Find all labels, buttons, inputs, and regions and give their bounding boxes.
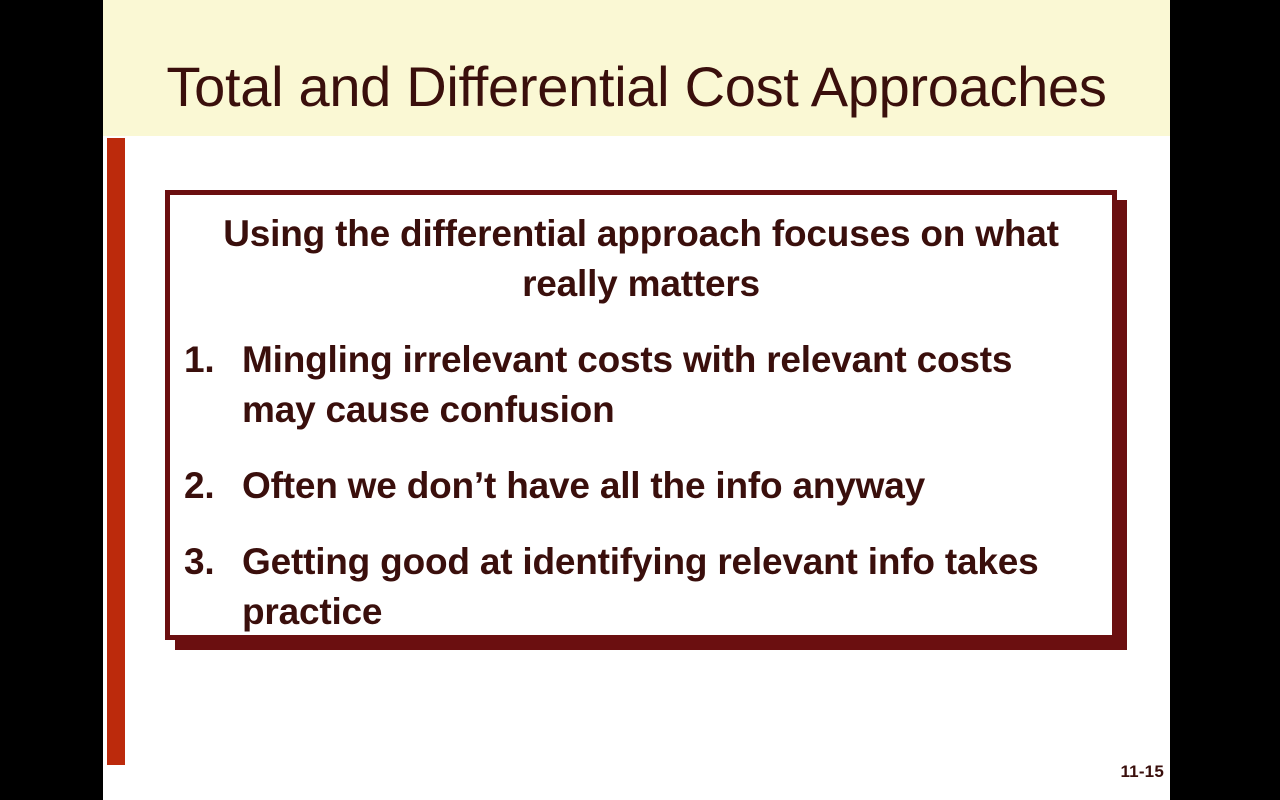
- title-banner: Total and Differential Cost Approaches: [103, 0, 1170, 136]
- list-item-number: 3.: [184, 537, 234, 587]
- list-item: 3. Getting good at identifying relevant …: [178, 537, 1094, 637]
- content-heading: Using the differential approach focuses …: [194, 209, 1088, 309]
- page-title: Total and Differential Cost Approaches: [103, 57, 1170, 117]
- content-box: Using the differential approach focuses …: [165, 190, 1117, 640]
- list-item-text: Getting good at identifying relevant inf…: [242, 541, 1038, 632]
- numbered-list: 1. Mingling irrelevant costs with releva…: [170, 335, 1112, 637]
- list-item-text: Mingling irrelevant costs with relevant …: [242, 339, 1012, 430]
- page-number: 11-15: [1120, 762, 1164, 782]
- slide-stage: Total and Differential Cost Approaches U…: [0, 0, 1280, 800]
- list-item-text: Often we don’t have all the info anyway: [242, 465, 925, 506]
- list-item-number: 1.: [184, 335, 234, 385]
- slide-canvas: Total and Differential Cost Approaches U…: [103, 0, 1170, 800]
- list-item: 1. Mingling irrelevant costs with releva…: [178, 335, 1094, 435]
- left-accent-bar: [107, 138, 125, 765]
- list-item: 2. Often we don’t have all the info anyw…: [178, 461, 1094, 511]
- list-item-number: 2.: [184, 461, 234, 511]
